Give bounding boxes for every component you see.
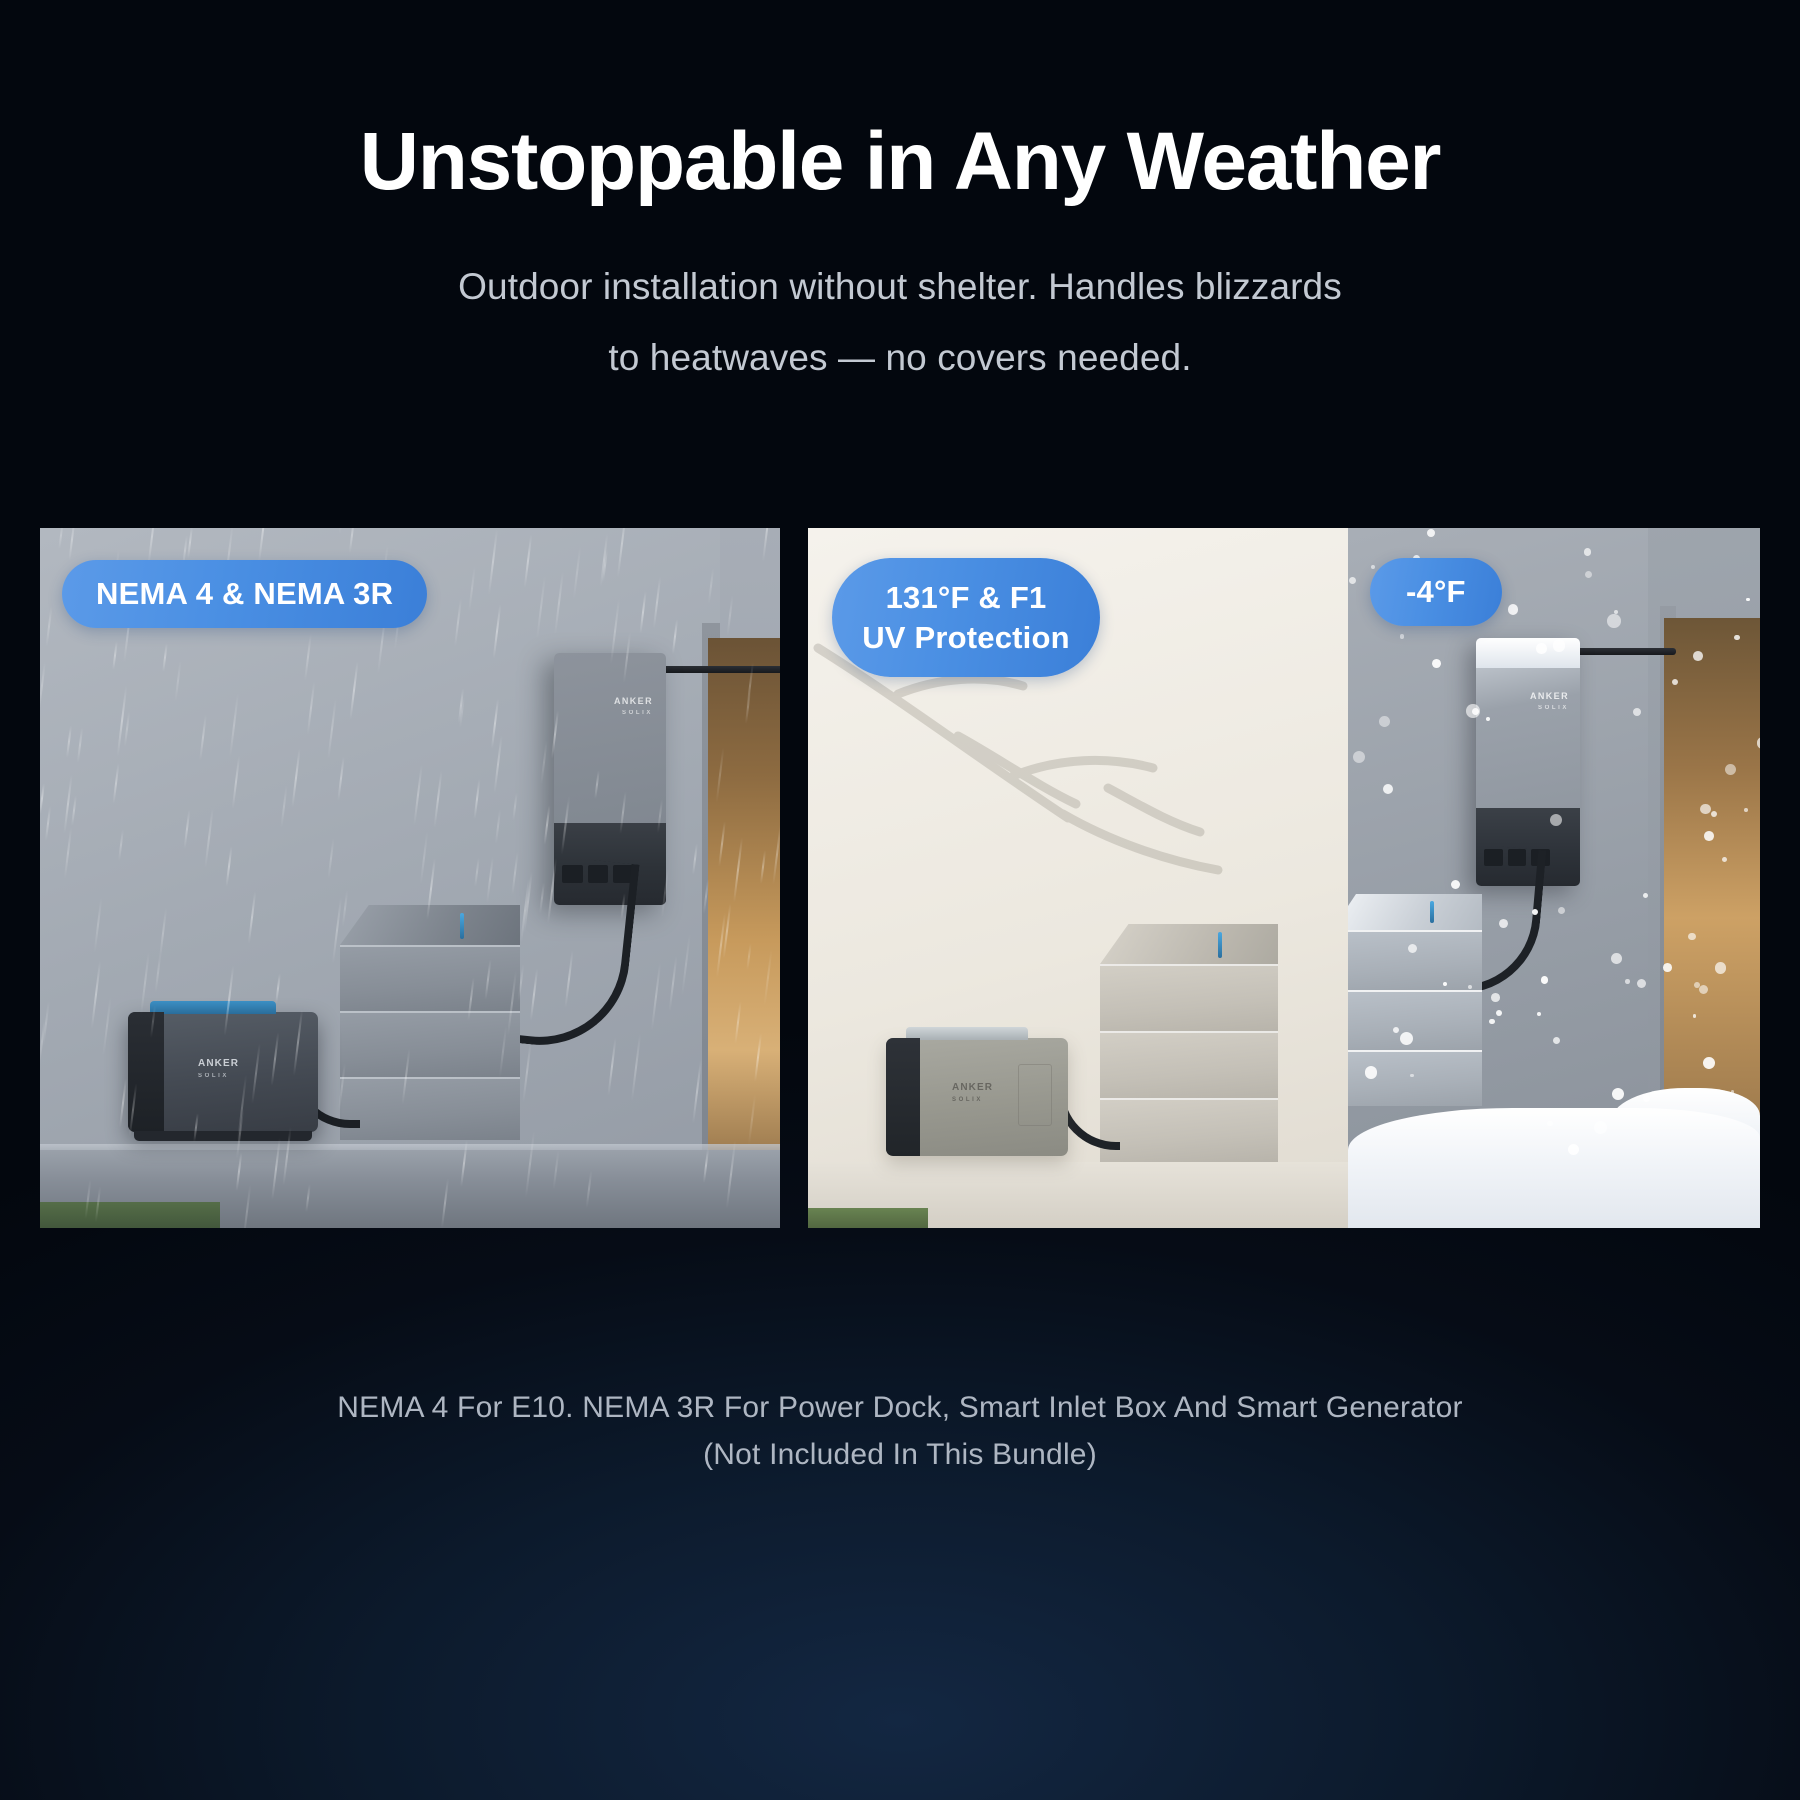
panel-heat: ANKER SOLIX 131°F & F1 UV Protection — [808, 528, 1348, 1228]
page-title: Unstoppable in Any Weather — [0, 118, 1800, 207]
portable-power-station: ANKER SOLIX — [128, 1012, 318, 1132]
battery-stack — [1348, 894, 1482, 1106]
product-brand-label: ANKER SOLIX — [614, 695, 653, 718]
panel-cold: ANKER SOLIX — [1348, 528, 1760, 1228]
scene-panels: ANKER SOLIX — [40, 528, 1760, 1228]
subtitle-line-1: Outdoor installation without shelter. Ha… — [0, 251, 1800, 322]
subtitle-line-2: to heatwaves — no covers needed. — [0, 322, 1800, 393]
grass-patch — [808, 1208, 928, 1228]
station-side-panel — [128, 1012, 164, 1132]
status-led — [460, 913, 464, 939]
badge-cold-rating: -4°F — [1370, 558, 1502, 626]
panel-rain: ANKER SOLIX — [40, 528, 780, 1228]
status-led — [1218, 932, 1222, 958]
header: Unstoppable in Any Weather Outdoor insta… — [0, 0, 1800, 393]
battery-stack — [1100, 924, 1278, 1162]
status-led — [1430, 901, 1434, 923]
marketing-slide: Unstoppable in Any Weather Outdoor insta… — [0, 0, 1800, 1800]
battery-module — [1348, 930, 1482, 990]
battery-module — [1100, 964, 1278, 1031]
grass-patch — [40, 1202, 220, 1228]
stack-top-cover — [1100, 924, 1278, 964]
battery-module — [1100, 1031, 1278, 1098]
station-brand-label: ANKER SOLIX — [198, 1056, 239, 1082]
battery-module — [1348, 990, 1482, 1050]
product-brand-label: ANKER SOLIX — [1530, 690, 1569, 713]
stack-top-cover — [340, 905, 520, 945]
portable-power-station: ANKER SOLIX — [886, 1038, 1068, 1156]
lit-doorway — [1664, 618, 1760, 1118]
station-side-panel — [886, 1038, 920, 1156]
battery-module — [340, 1077, 520, 1140]
snow-scene-image: ANKER SOLIX — [1348, 528, 1760, 1228]
rain-scene-image: ANKER SOLIX — [40, 528, 780, 1228]
snow-cap — [1476, 638, 1580, 668]
badge-nema-rating: NEMA 4 & NEMA 3R — [62, 560, 427, 628]
battery-stack — [340, 905, 520, 1140]
footer-line-2: (Not Included In This Bundle) — [0, 1432, 1800, 1479]
footer-disclaimer: NEMA 4 For E10. NEMA 3R For Power Dock, … — [0, 1385, 1800, 1800]
battery-module — [1100, 1098, 1278, 1162]
conduit — [660, 666, 780, 673]
conduit — [1576, 648, 1676, 655]
station-brand-label: ANKER SOLIX — [952, 1080, 993, 1106]
stack-top-cover — [1348, 894, 1482, 930]
battery-module — [340, 945, 520, 1011]
station-handle — [906, 1027, 1028, 1040]
station-base — [134, 1131, 312, 1141]
battery-module — [1348, 1050, 1482, 1106]
snow-ground — [1348, 1108, 1760, 1228]
lit-doorway — [708, 638, 780, 1188]
panel-heat-and-cold: ANKER SOLIX 131°F & F1 UV Protection — [808, 528, 1760, 1228]
battery-module — [340, 1011, 520, 1077]
station-handle — [150, 1001, 276, 1014]
subtitle: Outdoor installation without shelter. Ha… — [0, 251, 1800, 393]
station-front-panel — [1018, 1064, 1052, 1126]
footer-line-1: NEMA 4 For E10. NEMA 3R For Power Dock, … — [0, 1385, 1800, 1432]
badge-heat-uv-rating: 131°F & F1 UV Protection — [832, 558, 1100, 677]
